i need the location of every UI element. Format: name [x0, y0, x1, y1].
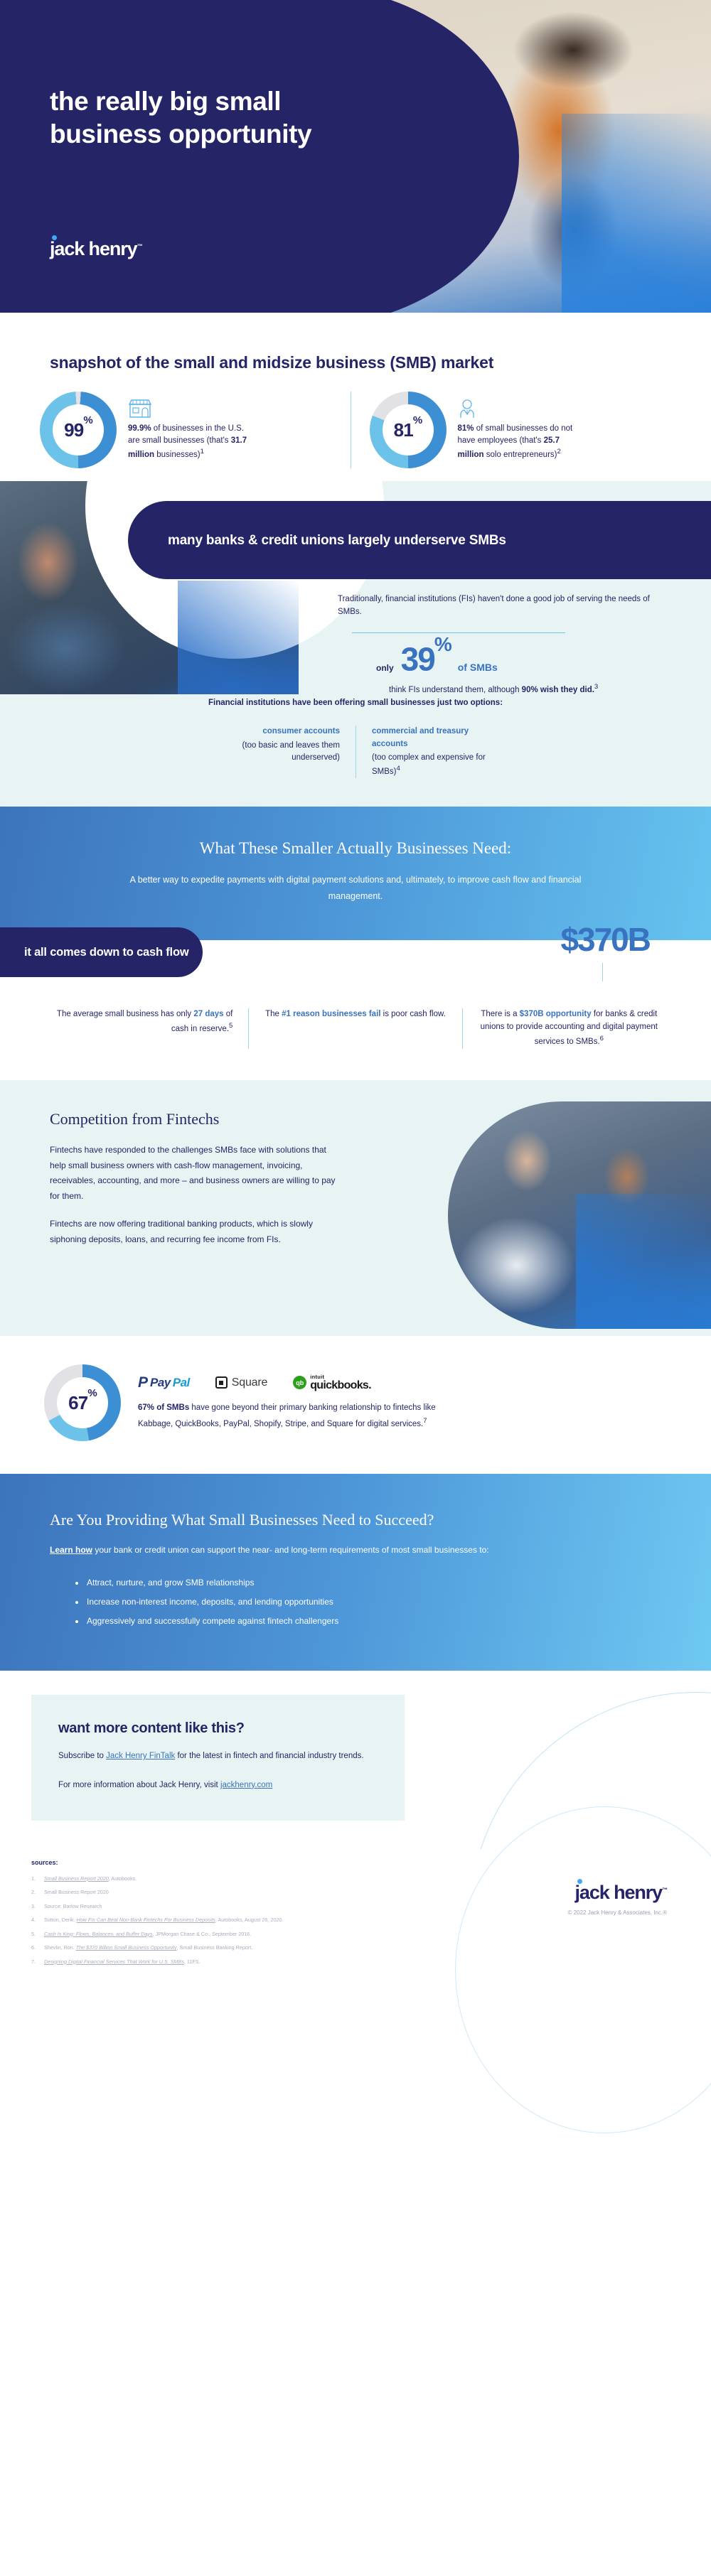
underserve-section: many banks & credit unions largely under…: [0, 481, 711, 694]
cashflow-cell-failure: The #1 reason businesses fail is poor ca…: [248, 1008, 461, 1049]
cashflow-cell3-pre: There is a: [481, 1010, 519, 1018]
donut-hole-81: 81%: [383, 404, 434, 456]
stat-text-99: 99.9% of businesses in the U.S. are smal…: [128, 399, 256, 461]
subscribe-heading: want more content like this?: [58, 1720, 378, 1737]
underserve-stat: only 39% of SMBs: [376, 643, 668, 675]
option-commercial-footnote: 4: [397, 765, 400, 772]
cta-body: Learn how your bank or credit union can …: [50, 1542, 547, 1558]
underserve-photo-glow: [178, 581, 299, 694]
intuit-text: intuit: [310, 1374, 371, 1380]
donut-chart-81: 81%: [370, 392, 447, 468]
footer-decorative-arc: [455, 1806, 711, 2133]
stat-footnote-81: 2: [557, 448, 560, 456]
needs-heading: What These Smaller Actually Businesses N…: [64, 839, 647, 858]
source-1-italic: Small Business Report 2020: [44, 1875, 109, 1882]
infographic-page: the really big small business opportunit…: [0, 0, 711, 1995]
source-1-rest: , Autobooks.: [109, 1875, 137, 1882]
source-3-rest: Source: Barlow Research: [44, 1903, 102, 1909]
sixtyseven-text: 67% of SMBs have gone beyond their prima…: [138, 1401, 451, 1431]
source-6-rest: , Small Business Banking Report.: [177, 1944, 253, 1951]
option-consumer-accounts: consumer accounts (too basic and leaves …: [192, 726, 355, 778]
sources-section: sources: Small Business Report 2020, Aut…: [0, 1849, 711, 1996]
jackhenry-com-link[interactable]: jackhenry.com: [220, 1781, 272, 1789]
snapshot-heading: snapshot of the small and midsize busine…: [50, 352, 711, 373]
stat-lead-81: 81%: [458, 424, 474, 433]
source-4-italic: How FIs Can Beat Non-Bank Fintechs For B…: [77, 1917, 215, 1923]
cashflow-cell3-bold: $370B opportunity: [520, 1010, 592, 1018]
stat-tail-99: businesses): [154, 451, 201, 459]
source-4-prefix: Sutton, Derik.: [44, 1917, 77, 1923]
footer-brand-tm: ™: [662, 1887, 667, 1893]
source-6-prefix: Shevlin, Ron.: [44, 1944, 76, 1951]
subscribe-body-pre: Subscribe to: [58, 1752, 106, 1760]
source-item-6: Shevlin, Ron. The $370 Billion Small Bus…: [31, 1944, 711, 1952]
cta-learn-how-link[interactable]: Learn how: [50, 1545, 92, 1555]
sixtyseven-section: 67% P PayPal Square qb intuit quickb: [0, 1336, 711, 1474]
source-7-italic: Designing Digital Financial Services Tha…: [44, 1958, 184, 1965]
underserve-body: Traditionally, financial institutions (F…: [338, 593, 668, 694]
underserve-pill-title: many banks & credit unions largely under…: [168, 532, 506, 550]
option-commercial-title: commercial and treasury accounts: [372, 726, 503, 750]
options-heading: Financial institutions have been offerin…: [0, 699, 711, 707]
hero-title: the really big small business opportunit…: [50, 85, 355, 151]
storefront-icon: [128, 399, 152, 419]
cta-heading: Are You Providing What Small Businesses …: [50, 1511, 661, 1529]
hero-logo: jack henry™: [50, 238, 141, 260]
square-mark-icon: [215, 1376, 228, 1389]
cashflow-cell-reserve: The average small business has only 27 d…: [36, 1008, 248, 1049]
hero-brand-text: jack henry: [50, 238, 137, 259]
source-item-5: Cash Is King: Flows, Balances, and Buffe…: [31, 1930, 711, 1939]
cta-section: Are You Providing What Small Businesses …: [0, 1474, 711, 1671]
underserve-sub-lead: think FIs understand them, although: [389, 686, 522, 694]
source-item-4: Sutton, Derik. How FIs Can Beat Non-Bank…: [31, 1916, 711, 1924]
underserve-intro: Traditionally, financial institutions (F…: [338, 593, 668, 618]
cashflow-cell2-bold: #1 reason businesses fail: [282, 1010, 380, 1018]
underserve-sub-bold: 90% wish they did.: [522, 686, 594, 694]
stat-text-81: 81% of small businesses do not have empl…: [458, 399, 586, 461]
needs-body: A better way to expedite payments with d…: [128, 872, 583, 905]
donut-hole-99: 99%: [53, 404, 104, 456]
quickbooks-text: quickbooks.: [310, 1379, 371, 1391]
source-item-7: Designing Digital Financial Services Tha…: [31, 1958, 711, 1966]
cta-body-text: your bank or credit union can support th…: [92, 1545, 489, 1555]
option-consumer-title: consumer accounts: [208, 726, 340, 738]
stat-81: 81% 81% of small businesses do not have …: [351, 392, 680, 468]
fintech-paragraph-2: Fintechs are now offering traditional ba…: [50, 1217, 338, 1247]
underserve-of-label: of SMBs: [458, 662, 498, 674]
logo-dot-icon: [52, 235, 57, 240]
hero-photo-mask: [348, 0, 519, 313]
donut-value-81: 81%: [394, 419, 422, 441]
footer-logo-dot-icon: [577, 1879, 582, 1884]
subscribe-small-note: For more information about Jack Henry, v…: [58, 1779, 378, 1792]
option-commercial-accounts: commercial and treasury accounts (too co…: [355, 726, 519, 778]
source-6-italic: The $370 Billion Small Business Opportun…: [76, 1944, 177, 1951]
snapshot-section: snapshot of the small and midsize busine…: [0, 313, 711, 481]
subscribe-body: Subscribe to Jack Henry FinTalk for the …: [58, 1750, 378, 1763]
underserve-divider: [352, 632, 565, 633]
donut-hole-67: 67%: [57, 1377, 108, 1428]
footer-jack-henry-wordmark: jack henry™: [575, 1882, 667, 1904]
quickbooks-logo: qb intuit quickbooks.: [293, 1374, 371, 1392]
fintalk-link[interactable]: Jack Henry FinTalk: [106, 1752, 175, 1760]
source-5-italic: Cash Is King: Flows, Balances, and Buffe…: [44, 1931, 153, 1937]
cashflow-cell2-pre: The: [265, 1010, 282, 1018]
cta-bullet-list: Attract, nurture, and grow SMB relations…: [75, 1573, 661, 1631]
donut-chart-67: 67%: [44, 1364, 121, 1441]
copyright-text: © 2022 Jack Henry & Associates, Inc.®: [568, 1909, 667, 1916]
footer-brand-text: jack henry: [575, 1882, 663, 1903]
fintech-heading: Competition from Fintechs: [50, 1110, 341, 1128]
source-7-rest: , 11FS.: [184, 1958, 201, 1965]
donut-chart-67-wrap: 67%: [44, 1364, 121, 1441]
subscribe-card: want more content like this? Subscribe t…: [31, 1695, 405, 1820]
underserve-sub-footnote: 3: [594, 683, 598, 691]
fintech-text-block: Competition from Fintechs Fintechs have …: [0, 1110, 341, 1248]
hero-photo-glow: [562, 114, 711, 313]
footer-logo-block: jack henry™ © 2022 Jack Henry & Associat…: [568, 1882, 667, 1916]
sixtyseven-footnote: 7: [423, 1417, 427, 1425]
quickbooks-mark-icon: qb: [293, 1376, 306, 1389]
cashflow-tick-divider: [602, 963, 603, 981]
donut-chart-99: 99%: [40, 392, 117, 468]
fintech-photo-glow: [576, 1194, 711, 1329]
cashflow-big-value: $370B: [560, 920, 650, 959]
cashflow-section: it all comes down to cash flow $370B The…: [0, 940, 711, 1080]
paypal-text-pay: Pay: [150, 1376, 171, 1390]
stat-tail-81: solo entrepreneurs): [484, 451, 557, 459]
paypal-mark-icon: P: [138, 1374, 146, 1391]
cta-bullet-1: Attract, nurture, and grow SMB relations…: [75, 1573, 661, 1593]
cashflow-cell1-footnote: 5: [229, 1022, 232, 1030]
stat-lead-99: 99.9%: [128, 424, 151, 433]
underserve-pill: many banks & credit unions largely under…: [128, 501, 711, 579]
source-2-rest: Small Business Report 2020: [44, 1889, 109, 1895]
options-grid: consumer accounts (too basic and leaves …: [0, 726, 711, 778]
cashflow-pill-title: it all comes down to cash flow: [24, 946, 188, 959]
donut-value-67: 67%: [68, 1392, 97, 1414]
option-consumer-detail: (too basic and leaves them underserved): [242, 741, 340, 762]
option-commercial-detail: (too complex and expensive for SMBs): [372, 753, 486, 776]
subscribe-body-post: for the latest in fintech and financial …: [175, 1752, 363, 1760]
paypal-logo: P PayPal: [138, 1374, 190, 1391]
stat-footnote-99: 1: [201, 448, 204, 456]
hero-text-block: the really big small business opportunit…: [50, 85, 355, 151]
square-text: Square: [232, 1376, 267, 1389]
cta-bullet-3: Aggressively and successfully compete ag…: [75, 1612, 661, 1631]
cashflow-cell2-post: is poor cash flow.: [380, 1010, 445, 1018]
fintech-section: Competition from Fintechs Fintechs have …: [0, 1080, 711, 1336]
cashflow-pill: it all comes down to cash flow: [0, 927, 203, 977]
square-logo: Square: [215, 1376, 267, 1389]
sixtyseven-text-bold: 67% of SMBs: [138, 1403, 189, 1412]
options-section: Financial institutions have been offerin…: [0, 694, 711, 807]
paypal-text-pal: Pal: [173, 1376, 190, 1390]
fintech-logo-row: P PayPal Square qb intuit quickbooks.: [138, 1374, 647, 1392]
cashflow-cell3-footnote: 6: [600, 1035, 604, 1042]
cashflow-cell-opportunity: There is a $370B opportunity for banks &…: [462, 1008, 675, 1049]
fintech-photo: [448, 1101, 711, 1329]
sixtyseven-body: P PayPal Square qb intuit quickbooks. 67…: [138, 1374, 711, 1432]
source-5-rest: , JPMorgan Chase & Co., September 2016.: [153, 1931, 252, 1937]
cta-bullet-2: Increase non-interest income, deposits, …: [75, 1593, 661, 1612]
person-icon: [458, 399, 476, 419]
subscribe-small-pre: For more information about Jack Henry, v…: [58, 1781, 220, 1789]
cashflow-cell1-pre: The average small business has only: [57, 1010, 193, 1018]
stat-99: 99% 99.9% of businesses in the U.S. are …: [31, 392, 351, 468]
hero-brand-tm: ™: [137, 243, 142, 249]
cashflow-cell1-bold: 27 days: [193, 1010, 223, 1018]
hero-photo: [348, 0, 711, 313]
snapshot-stat-row: 99% 99.9% of businesses in the U.S. are …: [0, 392, 711, 468]
jack-henry-wordmark: jack henry™: [50, 238, 141, 260]
donut-value-99: 99%: [64, 419, 92, 441]
underserve-only-label: only: [376, 663, 394, 673]
underserve-big-value: 39%: [401, 643, 451, 675]
fintech-paragraph-1: Fintechs have responded to the challenge…: [50, 1143, 338, 1204]
quickbooks-text-stack: intuit quickbooks.: [310, 1374, 371, 1392]
hero-section: the really big small business opportunit…: [0, 0, 711, 313]
source-4-rest: , Autobooks, August 26, 2020.: [215, 1917, 284, 1923]
underserve-subtext: think FIs understand them, although 90% …: [389, 682, 668, 694]
